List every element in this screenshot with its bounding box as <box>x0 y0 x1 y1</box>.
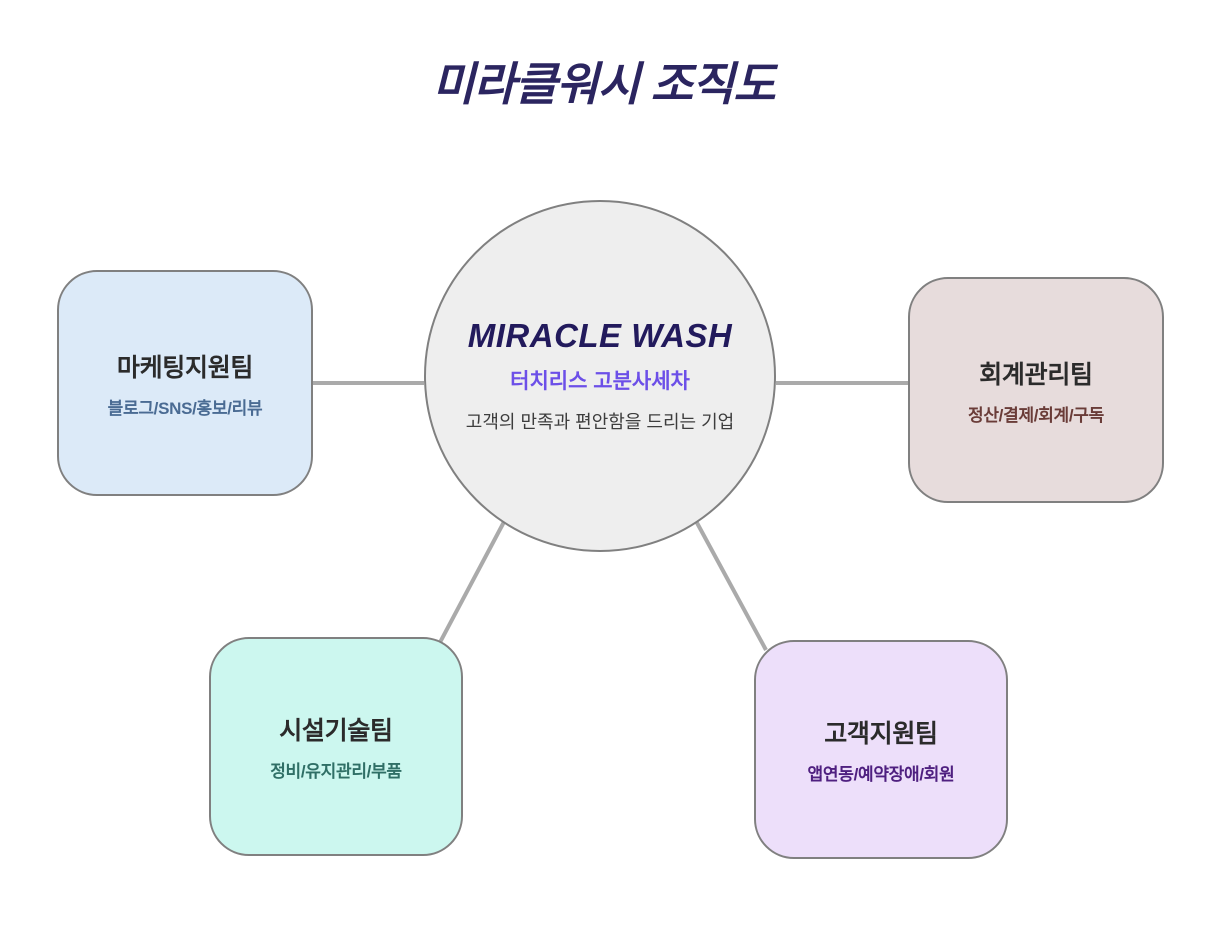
team-desc-accounting: 정산/결제/회계/구독 <box>968 401 1104 426</box>
team-node-facility[interactable]: 시설기술팀 정비/유지관리/부품 <box>209 637 463 856</box>
team-name-facility: 시설기술팀 <box>279 711 393 747</box>
connector-center-to-facility <box>437 520 505 648</box>
team-desc-facility: 정비/유지관리/부품 <box>270 757 402 782</box>
connector-center-to-support <box>696 521 766 650</box>
team-node-marketing[interactable]: 마케팅지원팀 블로그/SNS/홍보/리뷰 <box>57 270 313 496</box>
page-title: 미라클워시 조직도 <box>0 48 1207 114</box>
center-node-title: MIRACLE WASH <box>468 318 733 354</box>
team-desc-support: 앱연동/예약장애/회원 <box>808 760 955 785</box>
team-node-support[interactable]: 고객지원팀 앱연동/예약장애/회원 <box>754 640 1008 859</box>
team-name-marketing: 마케팅지원팀 <box>117 348 253 384</box>
team-node-accounting[interactable]: 회계관리팀 정산/결제/회계/구독 <box>908 277 1164 503</box>
center-node-miracle-wash[interactable]: MIRACLE WASH 터치리스 고분사세차 고객의 만족과 편안함을 드리는… <box>424 200 776 552</box>
center-node-slogan: 고객의 만족과 편안함을 드리는 기업 <box>466 408 734 434</box>
team-name-support: 고객지원팀 <box>824 714 938 750</box>
center-node-tagline: 터치리스 고분사세차 <box>510 365 690 395</box>
team-name-accounting: 회계관리팀 <box>979 355 1093 391</box>
team-desc-marketing: 블로그/SNS/홍보/리뷰 <box>108 394 263 419</box>
org-chart-canvas: 미라클워시 조직도 MIRACLE WASH 터치리스 고분사세차 고객의 만족… <box>0 0 1207 925</box>
